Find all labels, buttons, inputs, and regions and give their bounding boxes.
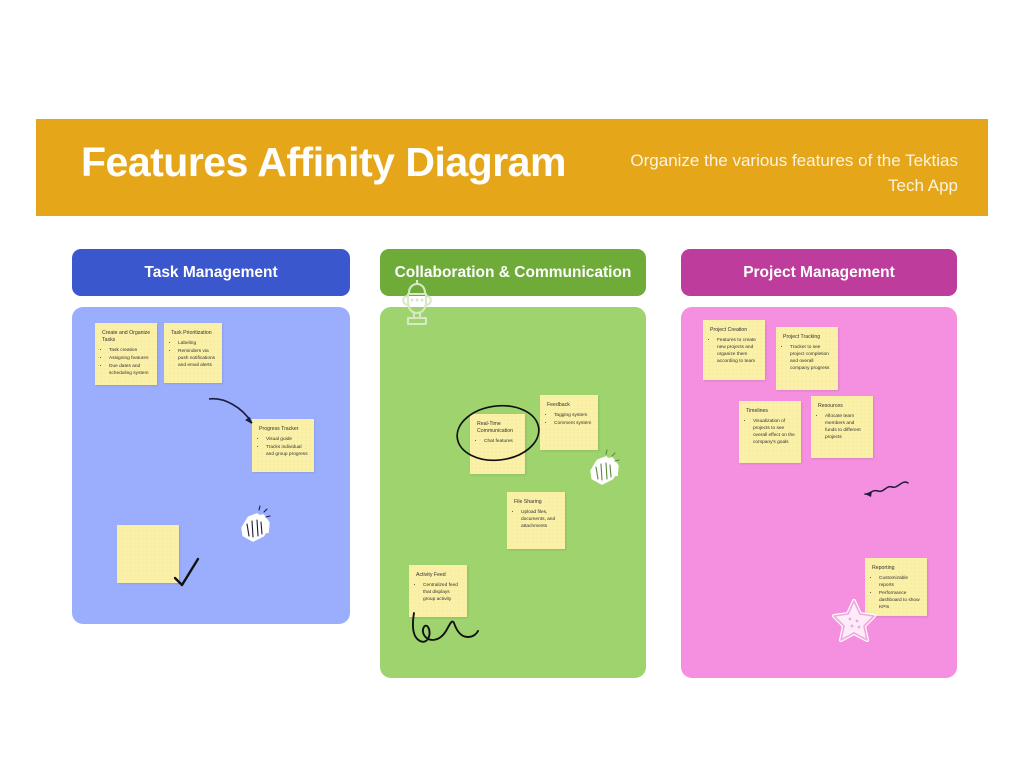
- column-project-management: Project Management Project Creation Feat…: [681, 249, 957, 678]
- note-title: Task Prioritization: [171, 330, 216, 337]
- note-title: Resources: [818, 403, 867, 410]
- column-title-label: Task Management: [144, 264, 277, 282]
- column-task-management: Task Management Create and Organize Task…: [72, 249, 350, 624]
- column-title-label: Collaboration & Communication: [395, 264, 632, 282]
- note-bullet: Visualization of projects to see overall…: [753, 419, 795, 447]
- note-title: Progress Tracker: [259, 426, 308, 433]
- note-bullet: Due dates and scheduling system: [109, 364, 151, 378]
- star-sticker: [830, 597, 878, 645]
- ellipse-circle: [454, 402, 542, 464]
- sticky-note[interactable]: Timelines Visualization of projects to s…: [739, 401, 801, 463]
- sticky-note[interactable]: Create and Organize Tasks Task creation …: [95, 323, 157, 385]
- note-bullet: Visual guide: [266, 437, 308, 444]
- note-title: Project Creation: [710, 327, 759, 334]
- note-bullet: Tagging system: [554, 413, 592, 420]
- checkmark: [170, 555, 206, 589]
- handwritten-scribble: [406, 607, 486, 649]
- note-title: Reporting: [872, 565, 921, 572]
- column-body-task-management: Create and Organize Tasks Task creation …: [72, 307, 350, 624]
- column-collaboration-communication: Collaboration & Communication Real-Time …: [380, 249, 646, 678]
- note-bullet: Tracks individual and group progress: [266, 445, 308, 459]
- note-bullet-list: Upload files, documents, and attachments: [513, 510, 559, 531]
- squiggly-arrow: [856, 477, 912, 505]
- note-bullet-list: Tracker to see project completion and ov…: [782, 345, 832, 373]
- note-title: Timelines: [746, 408, 795, 415]
- note-bullet: Reminders via push notifications and ema…: [178, 349, 216, 370]
- note-bullet: Assigning features: [109, 356, 151, 363]
- sticky-note[interactable]: Resources Allocate team members and fund…: [811, 396, 873, 458]
- sticky-note[interactable]: Project Creation Features to create new …: [703, 320, 765, 380]
- column-header-task-management[interactable]: Task Management: [72, 249, 350, 296]
- title-banner: Features Affinity Diagram Organize the v…: [36, 119, 988, 216]
- note-bullet-list: Allocate team members and funds to diffe…: [817, 414, 867, 442]
- note-bullet: Comment system: [554, 421, 592, 428]
- note-bullet: Customizable reports: [879, 576, 921, 590]
- note-title: Activity Feed: [416, 572, 461, 579]
- clapping-hands-sticker: [233, 504, 277, 548]
- note-bullet: Centralized feed that displays group act…: [423, 583, 461, 604]
- note-bullet-list: Tagging system Comment system: [546, 413, 592, 428]
- note-bullet-list: Labeling Reminders via push notification…: [170, 341, 216, 370]
- column-title-label: Project Management: [743, 264, 895, 282]
- note-title: Project Tracking: [783, 334, 832, 341]
- note-bullet: Task creation: [109, 348, 151, 355]
- sticky-note[interactable]: Project Tracking Tracker to see project …: [776, 327, 838, 390]
- note-bullet: Performance dashboard to show KPIs: [879, 591, 921, 612]
- note-title: Feedback: [547, 402, 592, 409]
- page-subtitle: Organize the various features of the Tek…: [628, 149, 958, 198]
- sticky-note[interactable]: Task Prioritization Labeling Reminders v…: [164, 323, 222, 383]
- note-bullet: Features to create new projects and orga…: [717, 338, 759, 366]
- note-title: File Sharing: [514, 499, 559, 506]
- column-header-project-management[interactable]: Project Management: [681, 249, 957, 296]
- note-bullet: Allocate team members and funds to diffe…: [825, 414, 867, 442]
- note-bullet-list: Centralized feed that displays group act…: [415, 583, 461, 604]
- note-bullet-list: Customizable reports Performance dashboa…: [871, 576, 921, 612]
- note-title: Create and Organize Tasks: [102, 330, 151, 344]
- column-body-project-management: Project Creation Features to create new …: [681, 307, 957, 678]
- clapping-hands-sticker: [582, 447, 626, 491]
- note-bullet-list: Visual guide Tracks individual and group…: [258, 437, 308, 459]
- column-body-collaboration-communication: Real-Time Communication Chat features Fe…: [380, 307, 646, 678]
- sticky-note[interactable]: Feedback Tagging system Comment system: [540, 395, 598, 450]
- trophy-sticker: [396, 280, 438, 328]
- note-bullet: Labeling: [178, 341, 216, 348]
- sticky-note[interactable]: File Sharing Upload files, documents, an…: [507, 492, 565, 549]
- note-bullet-list: Visualization of projects to see overall…: [745, 419, 795, 447]
- slide-canvas: Features Affinity Diagram Organize the v…: [0, 0, 1024, 769]
- note-bullet: Upload files, documents, and attachments: [521, 510, 559, 531]
- page-title: Features Affinity Diagram: [81, 139, 566, 186]
- note-bullet-list: Features to create new projects and orga…: [709, 338, 759, 366]
- note-bullet-list: Task creation Assigning features Due dat…: [101, 348, 151, 379]
- note-bullet: Tracker to see project completion and ov…: [790, 345, 832, 373]
- curved-arrow: [204, 393, 264, 435]
